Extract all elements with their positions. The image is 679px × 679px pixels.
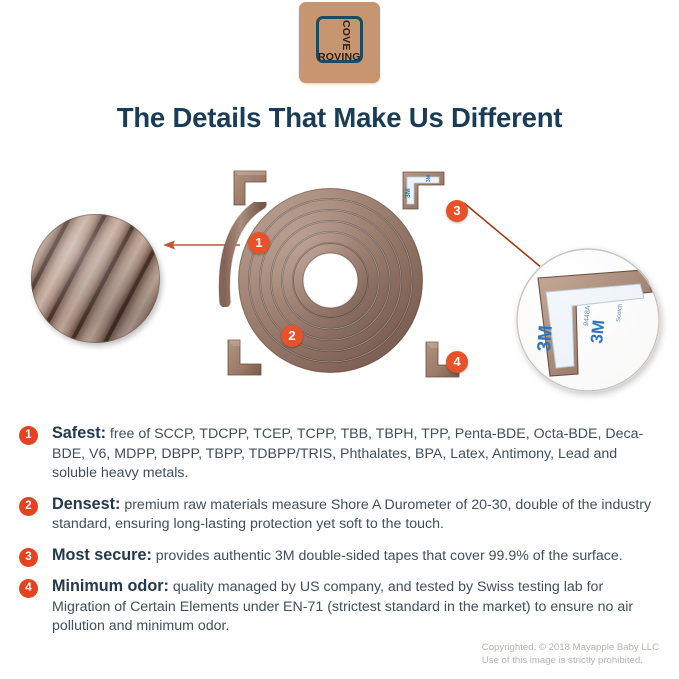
corner-guard-bottom-left: [224, 338, 264, 378]
list-item-heading: Safest:: [52, 424, 106, 442]
copyright-notice: Copyrighted. © 2018 Mayapple Baby LLC Us…: [482, 642, 659, 667]
list-item-text: Densest: premium raw materials measure S…: [52, 495, 664, 535]
page-title: The Details That Make Us Different: [0, 102, 679, 134]
3m-tape-closeup-magnifier: 3M 3M 9448A Scotch: [516, 248, 660, 392]
product-illustration: 3M 3M: [0, 155, 679, 410]
svg-text:3M: 3M: [405, 188, 412, 198]
list-item-text: Most secure: provides authentic 3M doubl…: [52, 546, 664, 567]
list-badge-2: 2: [19, 497, 38, 516]
brand-logo: ROVING COVE: [299, 2, 380, 83]
illustration-marker-4: 4: [446, 351, 468, 373]
corner-guard-with-3m-tape: 3M 3M: [400, 169, 448, 213]
list-item: 4 Minimum odor: quality managed by US co…: [19, 577, 664, 637]
details-list: 1 Safest: free of SCCP, TDCPP, TCEP, TCP…: [19, 424, 664, 648]
illustration-marker-3: 3: [446, 200, 468, 222]
list-item: 1 Safest: free of SCCP, TDCPP, TCEP, TCP…: [19, 424, 664, 484]
list-item: 3 Most secure: provides authentic 3M dou…: [19, 546, 664, 567]
foam-strip-loose-end: [215, 202, 271, 307]
foam-closeup-magnifier: [31, 214, 160, 343]
list-item-heading: Minimum odor:: [52, 577, 169, 595]
list-badge-3: 3: [19, 548, 38, 567]
list-item-body: provides authentic 3M double-sided tapes…: [152, 548, 623, 564]
list-item-body: free of SCCP, TDCPP, TCEP, TCPP, TBB, TB…: [52, 426, 643, 481]
logo-text-cove: COVE: [341, 20, 352, 51]
svg-text:3M: 3M: [426, 175, 432, 182]
illustration-marker-2: 2: [281, 325, 303, 347]
logo-text-roving: ROVING: [318, 52, 361, 63]
list-item-heading: Most secure:: [52, 546, 152, 564]
copyright-line-1: Copyrighted. © 2018 Mayapple Baby LLC: [482, 642, 659, 655]
list-item-text: Safest: free of SCCP, TDCPP, TCEP, TCPP,…: [52, 424, 664, 484]
list-item: 2 Densest: premium raw materials measure…: [19, 495, 664, 535]
magnifier-rim: [31, 214, 160, 343]
copyright-line-2: Use of this image is strictly prohibited…: [482, 655, 659, 668]
list-badge-1: 1: [19, 426, 38, 445]
corner-guard-top-left: [230, 169, 270, 209]
illustration-marker-1: 1: [248, 232, 270, 254]
list-item-text: Minimum odor: quality managed by US comp…: [52, 577, 664, 637]
list-badge-4: 4: [19, 579, 38, 598]
list-item-body: premium raw materials measure Shore A Du…: [52, 497, 651, 533]
list-item-heading: Densest:: [52, 495, 120, 513]
